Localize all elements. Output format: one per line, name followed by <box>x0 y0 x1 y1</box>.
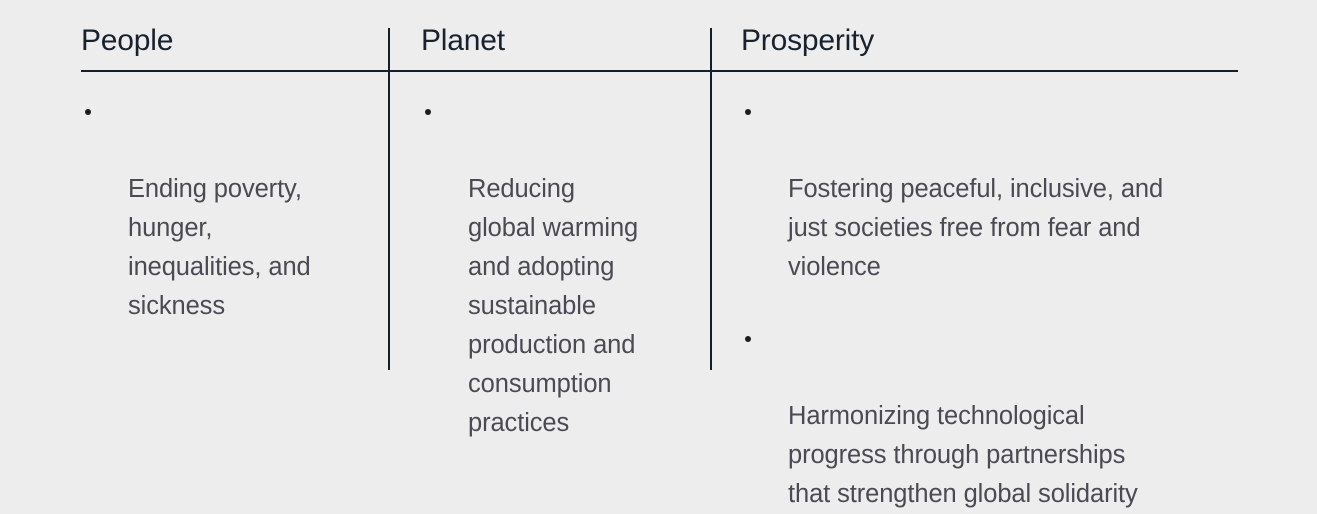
list-item: Ending poverty, hunger, inequalities, an… <box>81 92 381 326</box>
column-heading-prosperity: Prosperity <box>741 22 874 60</box>
bullet-dot-icon <box>745 336 751 342</box>
column-divider-1 <box>388 28 390 370</box>
bullet-dot-icon <box>85 109 91 115</box>
list-item: Reducing global warming and adopting sus… <box>421 92 699 443</box>
bullet-list-planet: Reducing global warming and adopting sus… <box>421 92 699 443</box>
column-heading-people: People <box>81 22 173 60</box>
column-divider-2 <box>710 28 712 370</box>
bullet-dot-icon <box>745 109 751 115</box>
list-item-text: Harmonizing technological progress throu… <box>788 402 1138 508</box>
list-item: Fostering peaceful, inclusive, and just … <box>741 92 1241 287</box>
bullet-list-prosperity: Fostering peaceful, inclusive, and just … <box>741 92 1241 514</box>
slide-canvas: People Ending poverty, hunger, inequalit… <box>0 0 1317 407</box>
list-item-text: Fostering peaceful, inclusive, and just … <box>788 175 1163 281</box>
header-divider-horizontal <box>81 70 1238 72</box>
list-item-text: Ending poverty, hunger, inequalities, an… <box>128 175 311 320</box>
bullet-list-people: Ending poverty, hunger, inequalities, an… <box>81 92 381 326</box>
list-item: Harmonizing technological progress throu… <box>741 319 1241 514</box>
bullet-dot-icon <box>425 109 431 115</box>
list-item-text: Reducing global warming and adopting sus… <box>468 175 638 437</box>
column-heading-planet: Planet <box>421 22 505 60</box>
